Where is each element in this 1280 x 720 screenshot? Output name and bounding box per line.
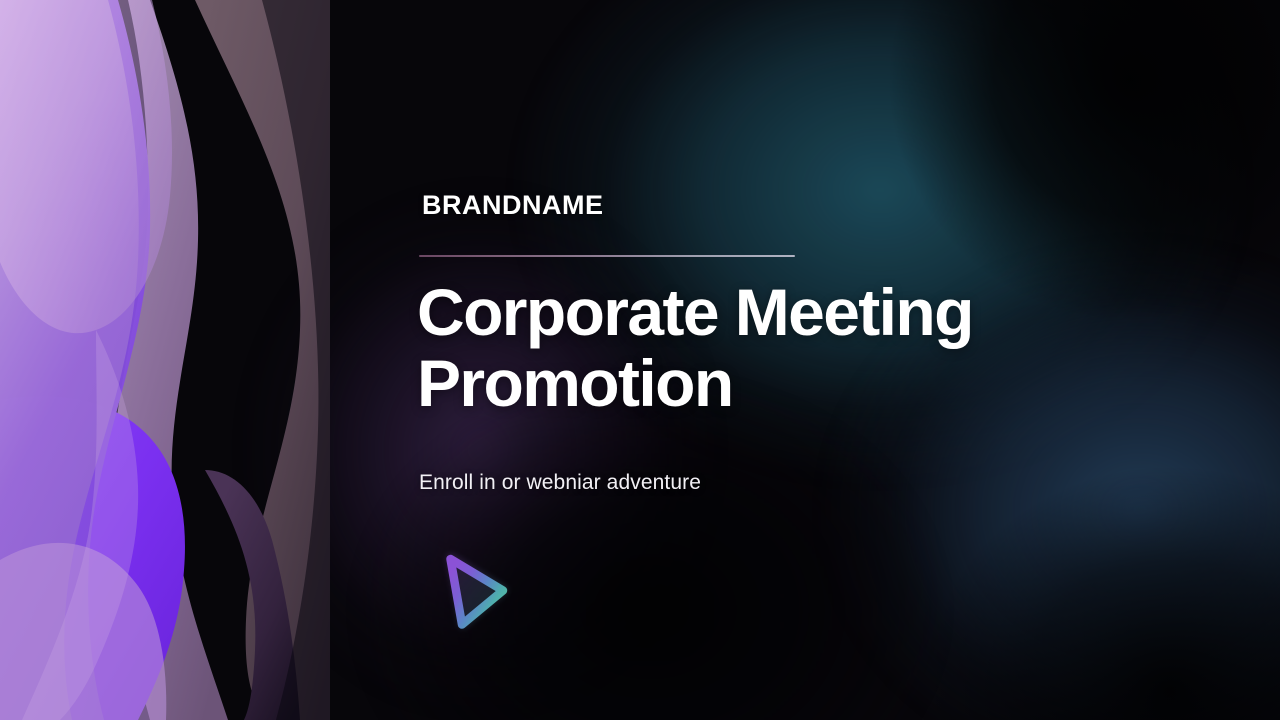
promo-slide: BRANDNAME Corporate Meeting Promotion En… bbox=[0, 0, 1280, 720]
decorative-wave-graphic bbox=[0, 0, 330, 720]
page-title: Corporate Meeting Promotion bbox=[417, 277, 1207, 419]
divider-rule bbox=[419, 255, 795, 257]
play-triangle-icon[interactable] bbox=[433, 548, 519, 634]
subtitle: Enroll in or webniar adventure bbox=[419, 469, 701, 496]
brand-name: BRANDNAME bbox=[422, 192, 604, 219]
content-block: BRANDNAME Corporate Meeting Promotion En… bbox=[417, 0, 1207, 720]
